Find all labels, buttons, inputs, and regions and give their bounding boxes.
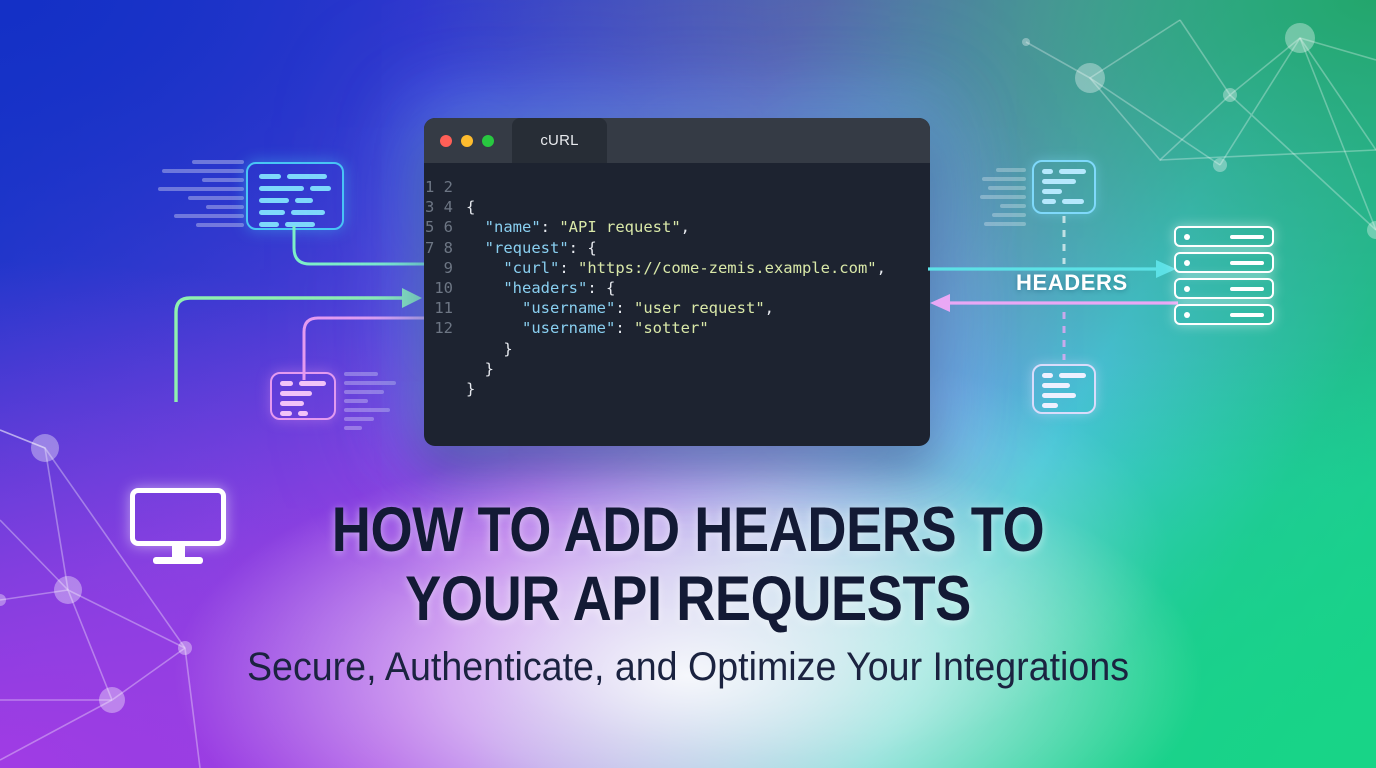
banner-stage: cURL 1 2 3 4 5 6 7 8 9 10 11 12 { "name"… bbox=[0, 0, 1376, 768]
connector-cyan bbox=[240, 226, 440, 286]
page-subtitle: Secure, Authenticate, and Optimize Your … bbox=[41, 645, 1334, 690]
server-bar-icon bbox=[1230, 235, 1264, 239]
decor-card-pink bbox=[270, 372, 336, 420]
server-unit bbox=[1174, 278, 1274, 299]
server-bar-icon bbox=[1230, 261, 1264, 265]
dashed-connector-top bbox=[1058, 216, 1070, 264]
line-number-gutter: 1 2 3 4 5 6 7 8 9 10 11 12 bbox=[424, 177, 462, 446]
server-led-icon bbox=[1184, 234, 1190, 240]
server-bar-icon bbox=[1230, 313, 1264, 317]
close-icon[interactable] bbox=[440, 135, 452, 147]
server-stack bbox=[1174, 226, 1274, 330]
server-unit bbox=[1174, 226, 1274, 247]
server-led-icon bbox=[1184, 312, 1190, 318]
code-texture-right-top bbox=[978, 168, 1026, 226]
dashed-connector-bottom bbox=[1058, 312, 1070, 360]
tab-curl-label: cURL bbox=[540, 132, 578, 149]
title-line-2: YOUR API REQUESTS bbox=[96, 565, 1279, 634]
decor-card-cyan bbox=[246, 162, 344, 230]
title-block: HOW TO ADD HEADERS TO YOUR API REQUESTS … bbox=[0, 496, 1376, 690]
server-led-icon bbox=[1184, 260, 1190, 266]
server-bar-icon bbox=[1230, 287, 1264, 291]
maximize-icon[interactable] bbox=[482, 135, 494, 147]
decor-card-right-bottom bbox=[1032, 364, 1096, 414]
minimize-icon[interactable] bbox=[461, 135, 473, 147]
traffic-lights bbox=[440, 135, 494, 147]
server-led-icon bbox=[1184, 286, 1190, 292]
code-texture-left-top bbox=[158, 160, 244, 227]
code-texture-left-bottom bbox=[344, 372, 400, 430]
connector-pink bbox=[290, 300, 440, 380]
page-title: HOW TO ADD HEADERS TO YOUR API REQUESTS bbox=[96, 496, 1279, 634]
tab-curl[interactable]: cURL bbox=[512, 118, 607, 163]
code-window[interactable]: cURL 1 2 3 4 5 6 7 8 9 10 11 12 { "name"… bbox=[424, 118, 930, 446]
decor-card-right-top bbox=[1032, 160, 1096, 214]
server-unit bbox=[1174, 252, 1274, 273]
code-window-titlebar: cURL bbox=[424, 118, 930, 163]
server-unit bbox=[1174, 304, 1274, 325]
code-content[interactable]: { "name": "API request", "request": { "c… bbox=[462, 177, 886, 446]
title-line-1: HOW TO ADD HEADERS TO bbox=[96, 496, 1279, 565]
code-editor-body[interactable]: 1 2 3 4 5 6 7 8 9 10 11 12 { "name": "AP… bbox=[424, 163, 930, 446]
arrow-pink-left bbox=[928, 292, 1178, 314]
